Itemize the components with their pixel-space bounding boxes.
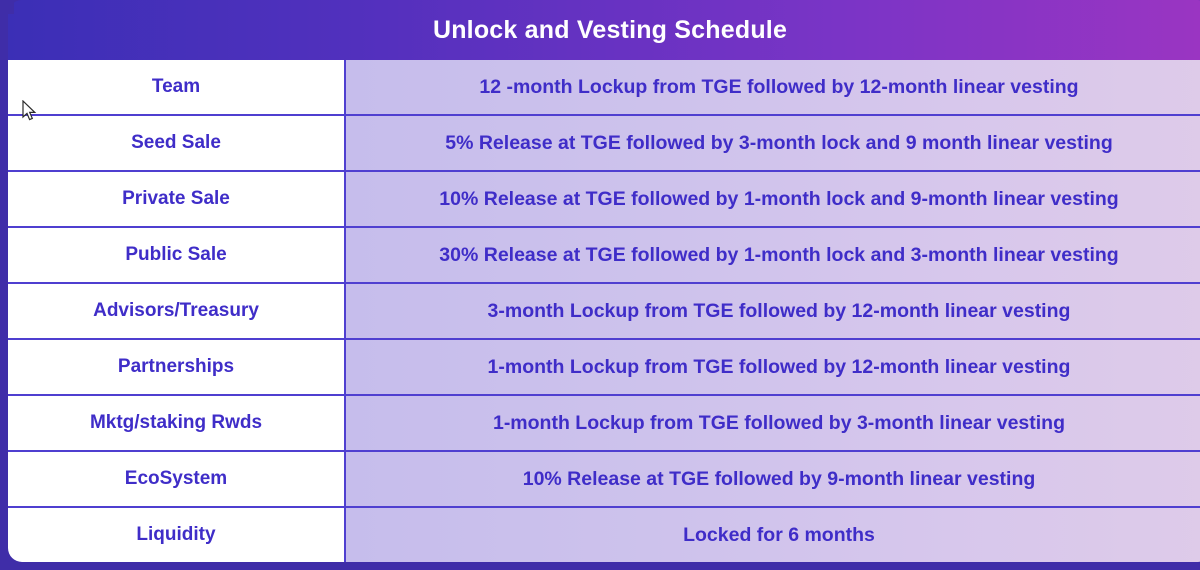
table-row: Team12 -month Lockup from TGE followed b… [8, 60, 1200, 116]
table-row: LiquidityLocked for 6 months [8, 508, 1200, 562]
table-row: Partnerships1-month Lockup from TGE foll… [8, 340, 1200, 396]
vesting-schedule-table: Unlock and Vesting Schedule Team12 -mont… [8, 0, 1200, 562]
table-row: Seed Sale5% Release at TGE followed by 3… [8, 116, 1200, 172]
cell-category: Partnerships [8, 340, 346, 394]
cell-category: Seed Sale [8, 116, 346, 170]
cell-category: EcoSystem [8, 452, 346, 506]
table-row: Mktg/staking Rwds1-month Lockup from TGE… [8, 396, 1200, 452]
cell-category: Mktg/staking Rwds [8, 396, 346, 450]
page-root: Unlock and Vesting Schedule Team12 -mont… [0, 0, 1200, 570]
cell-category: Advisors/Treasury [8, 284, 346, 338]
cell-schedule: Locked for 6 months [346, 508, 1200, 562]
cell-schedule: 5% Release at TGE followed by 3-month lo… [346, 116, 1200, 170]
cell-category: Team [8, 60, 346, 114]
cell-schedule: 12 -month Lockup from TGE followed by 12… [346, 60, 1200, 114]
cell-schedule: 10% Release at TGE followed by 1-month l… [346, 172, 1200, 226]
table-body: Team12 -month Lockup from TGE followed b… [8, 60, 1200, 562]
cell-schedule: 10% Release at TGE followed by 9-month l… [346, 452, 1200, 506]
table-header: Unlock and Vesting Schedule [8, 0, 1200, 60]
frame-bottom-edge [0, 562, 1200, 570]
cell-category: Public Sale [8, 228, 346, 282]
cell-category: Private Sale [8, 172, 346, 226]
table-row: EcoSystem10% Release at TGE followed by … [8, 452, 1200, 508]
table-row: Private Sale10% Release at TGE followed … [8, 172, 1200, 228]
cell-category: Liquidity [8, 508, 346, 562]
table-row: Advisors/Treasury3-month Lockup from TGE… [8, 284, 1200, 340]
frame-corner-fill [0, 0, 14, 14]
cell-schedule: 1-month Lockup from TGE followed by 12-m… [346, 340, 1200, 394]
page-title: Unlock and Vesting Schedule [433, 16, 787, 45]
cell-schedule: 3-month Lockup from TGE followed by 12-m… [346, 284, 1200, 338]
cell-schedule: 30% Release at TGE followed by 1-month l… [346, 228, 1200, 282]
cell-schedule: 1-month Lockup from TGE followed by 3-mo… [346, 396, 1200, 450]
frame-left-edge [0, 0, 8, 570]
table-row: Public Sale30% Release at TGE followed b… [8, 228, 1200, 284]
